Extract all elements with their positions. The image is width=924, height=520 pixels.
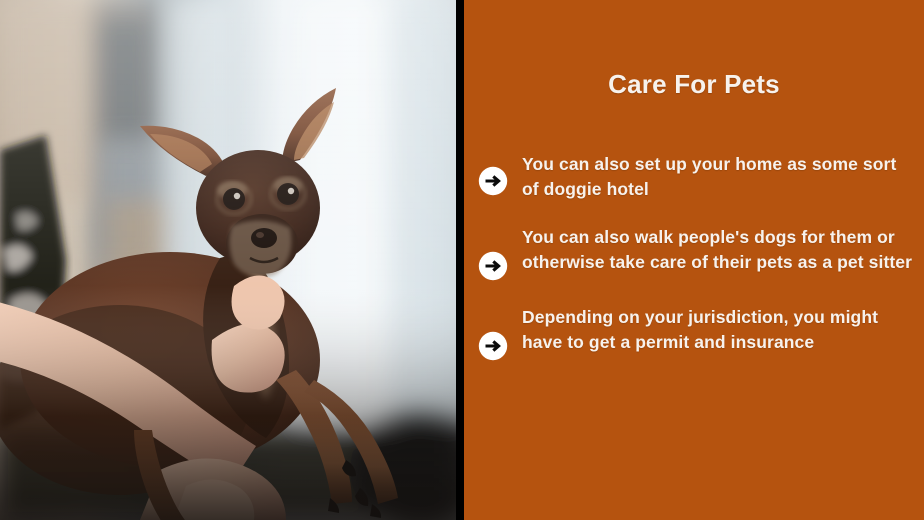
presentation-slide: Care For Pets You can also set up your h… — [0, 0, 924, 520]
list-item-label: Depending on your jurisdiction, you migh… — [522, 305, 914, 354]
page-title: Care For Pets — [464, 69, 924, 100]
list-item-label: You can also walk people's dogs for them… — [522, 225, 914, 274]
arrow-right-circle-icon — [478, 331, 508, 361]
bullet-list: You can also set up your home as some so… — [478, 152, 914, 385]
vertical-divider — [456, 0, 464, 520]
list-item: Depending on your jurisdiction, you migh… — [478, 305, 914, 361]
content-panel: Care For Pets You can also set up your h… — [464, 0, 924, 520]
list-item-label: You can also set up your home as some so… — [522, 152, 914, 201]
arrow-right-circle-icon — [478, 251, 508, 281]
arrow-right-circle-icon — [478, 166, 508, 196]
dog-photo — [0, 0, 456, 520]
dog-photo-illustration — [0, 0, 456, 520]
list-item: You can also walk people's dogs for them… — [478, 225, 914, 281]
list-item: You can also set up your home as some so… — [478, 152, 914, 201]
